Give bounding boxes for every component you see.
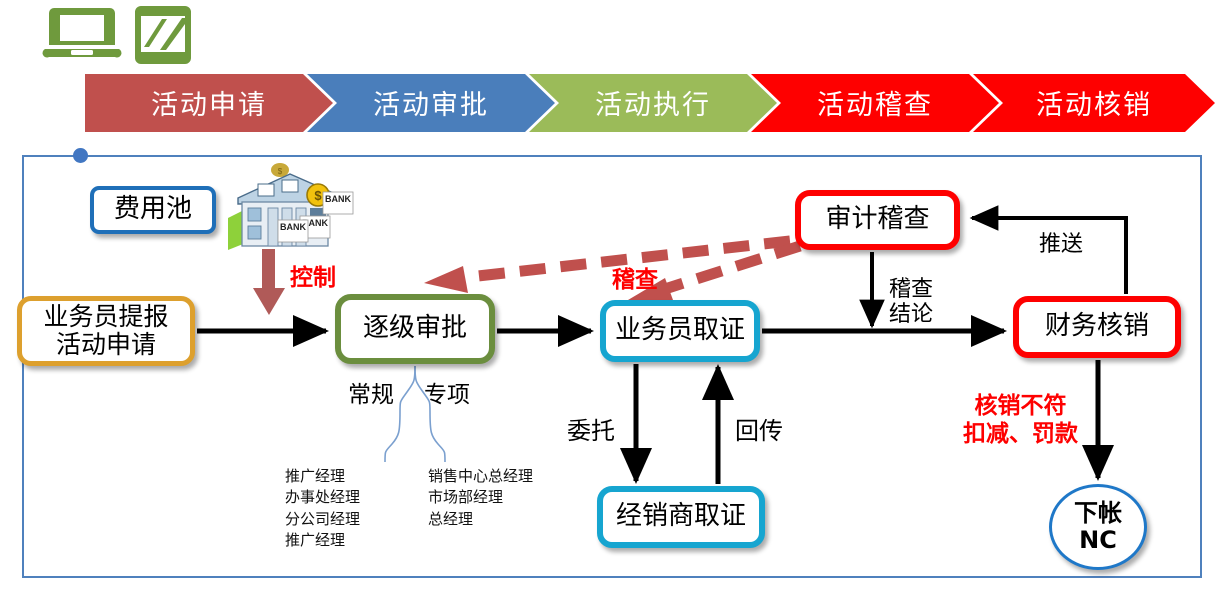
banner-step-2[interactable]: 活动审批: [307, 74, 555, 132]
svg-text:$: $: [278, 167, 283, 176]
svg-text:BANK: BANK: [325, 194, 351, 204]
node-apply[interactable]: 业务员提报 活动申请: [17, 296, 195, 366]
frame-handle-dot[interactable]: [73, 148, 88, 163]
laptop-icon: [43, 8, 122, 57]
process-banner: 活动申请 活动审批 活动执行 活动稽查 活动核销: [85, 74, 1215, 132]
node-audit-inspect-label: 审计稽查: [801, 205, 954, 234]
device-icons-group: [38, 4, 203, 66]
node-dealer-evidence[interactable]: 经销商取证: [597, 486, 765, 548]
banner-step-5-label: 活动核销: [1036, 83, 1152, 122]
node-cost-pool[interactable]: 费用池: [90, 186, 216, 234]
banner-step-2-label: 活动审批: [373, 83, 489, 122]
label-return: 回传: [735, 411, 783, 446]
role-list-normal: 推广经理 办事处经理 分公司经理 推广经理: [285, 466, 360, 551]
label-entrust: 委托: [567, 411, 615, 446]
node-nc-account-label: 下帐 NC: [1052, 500, 1144, 554]
role-list-special: 销售中心总经理 市场部经理 总经理: [428, 466, 533, 530]
node-salesman-evidence-label: 业务员取证: [606, 316, 754, 345]
banner-step-5[interactable]: 活动核销: [973, 74, 1215, 132]
node-approve-label: 逐级审批: [341, 314, 489, 343]
label-penalty: 核销不符 扣减、罚款: [963, 392, 1078, 447]
banner-step-3[interactable]: 活动执行: [529, 74, 777, 132]
node-apply-label: 业务员提报 活动申请: [22, 303, 190, 359]
node-finance-writeoff-label: 财务核销: [1019, 312, 1175, 341]
node-dealer-evidence-label: 经销商取证: [603, 502, 759, 531]
svg-text:$: $: [314, 188, 322, 203]
node-finance-writeoff[interactable]: 财务核销: [1013, 296, 1181, 358]
banner-step-1-label: 活动申请: [151, 83, 267, 122]
label-inspection: 稽查: [612, 260, 658, 294]
label-push: 推送: [1039, 226, 1083, 258]
banner-step-1[interactable]: 活动申请: [85, 74, 333, 132]
node-audit-inspect[interactable]: 审计稽查: [795, 190, 960, 250]
node-approve[interactable]: 逐级审批: [335, 294, 495, 364]
label-bracket-normal: 常规: [348, 375, 394, 409]
banner-step-4[interactable]: 活动稽查: [751, 74, 999, 132]
label-bracket-special: 专项: [424, 375, 470, 409]
slide-canvas: 活动申请 活动审批 活动执行 活动稽查 活动核销: [0, 0, 1229, 593]
label-control: 控制: [290, 258, 336, 292]
bank-building-icon: $ $ BANK BANK BANK: [218, 158, 358, 263]
banner-step-3-label: 活动执行: [595, 83, 711, 122]
smartphone-icon: [135, 6, 191, 64]
label-inspection-conclusion: 稽查结论: [889, 278, 951, 327]
svg-text:BANK: BANK: [280, 222, 306, 232]
node-cost-pool-label: 费用池: [94, 195, 212, 224]
banner-step-4-label: 活动稽查: [817, 83, 933, 122]
node-salesman-evidence[interactable]: 业务员取证: [600, 300, 760, 362]
node-nc-account[interactable]: 下帐 NC: [1049, 484, 1147, 570]
